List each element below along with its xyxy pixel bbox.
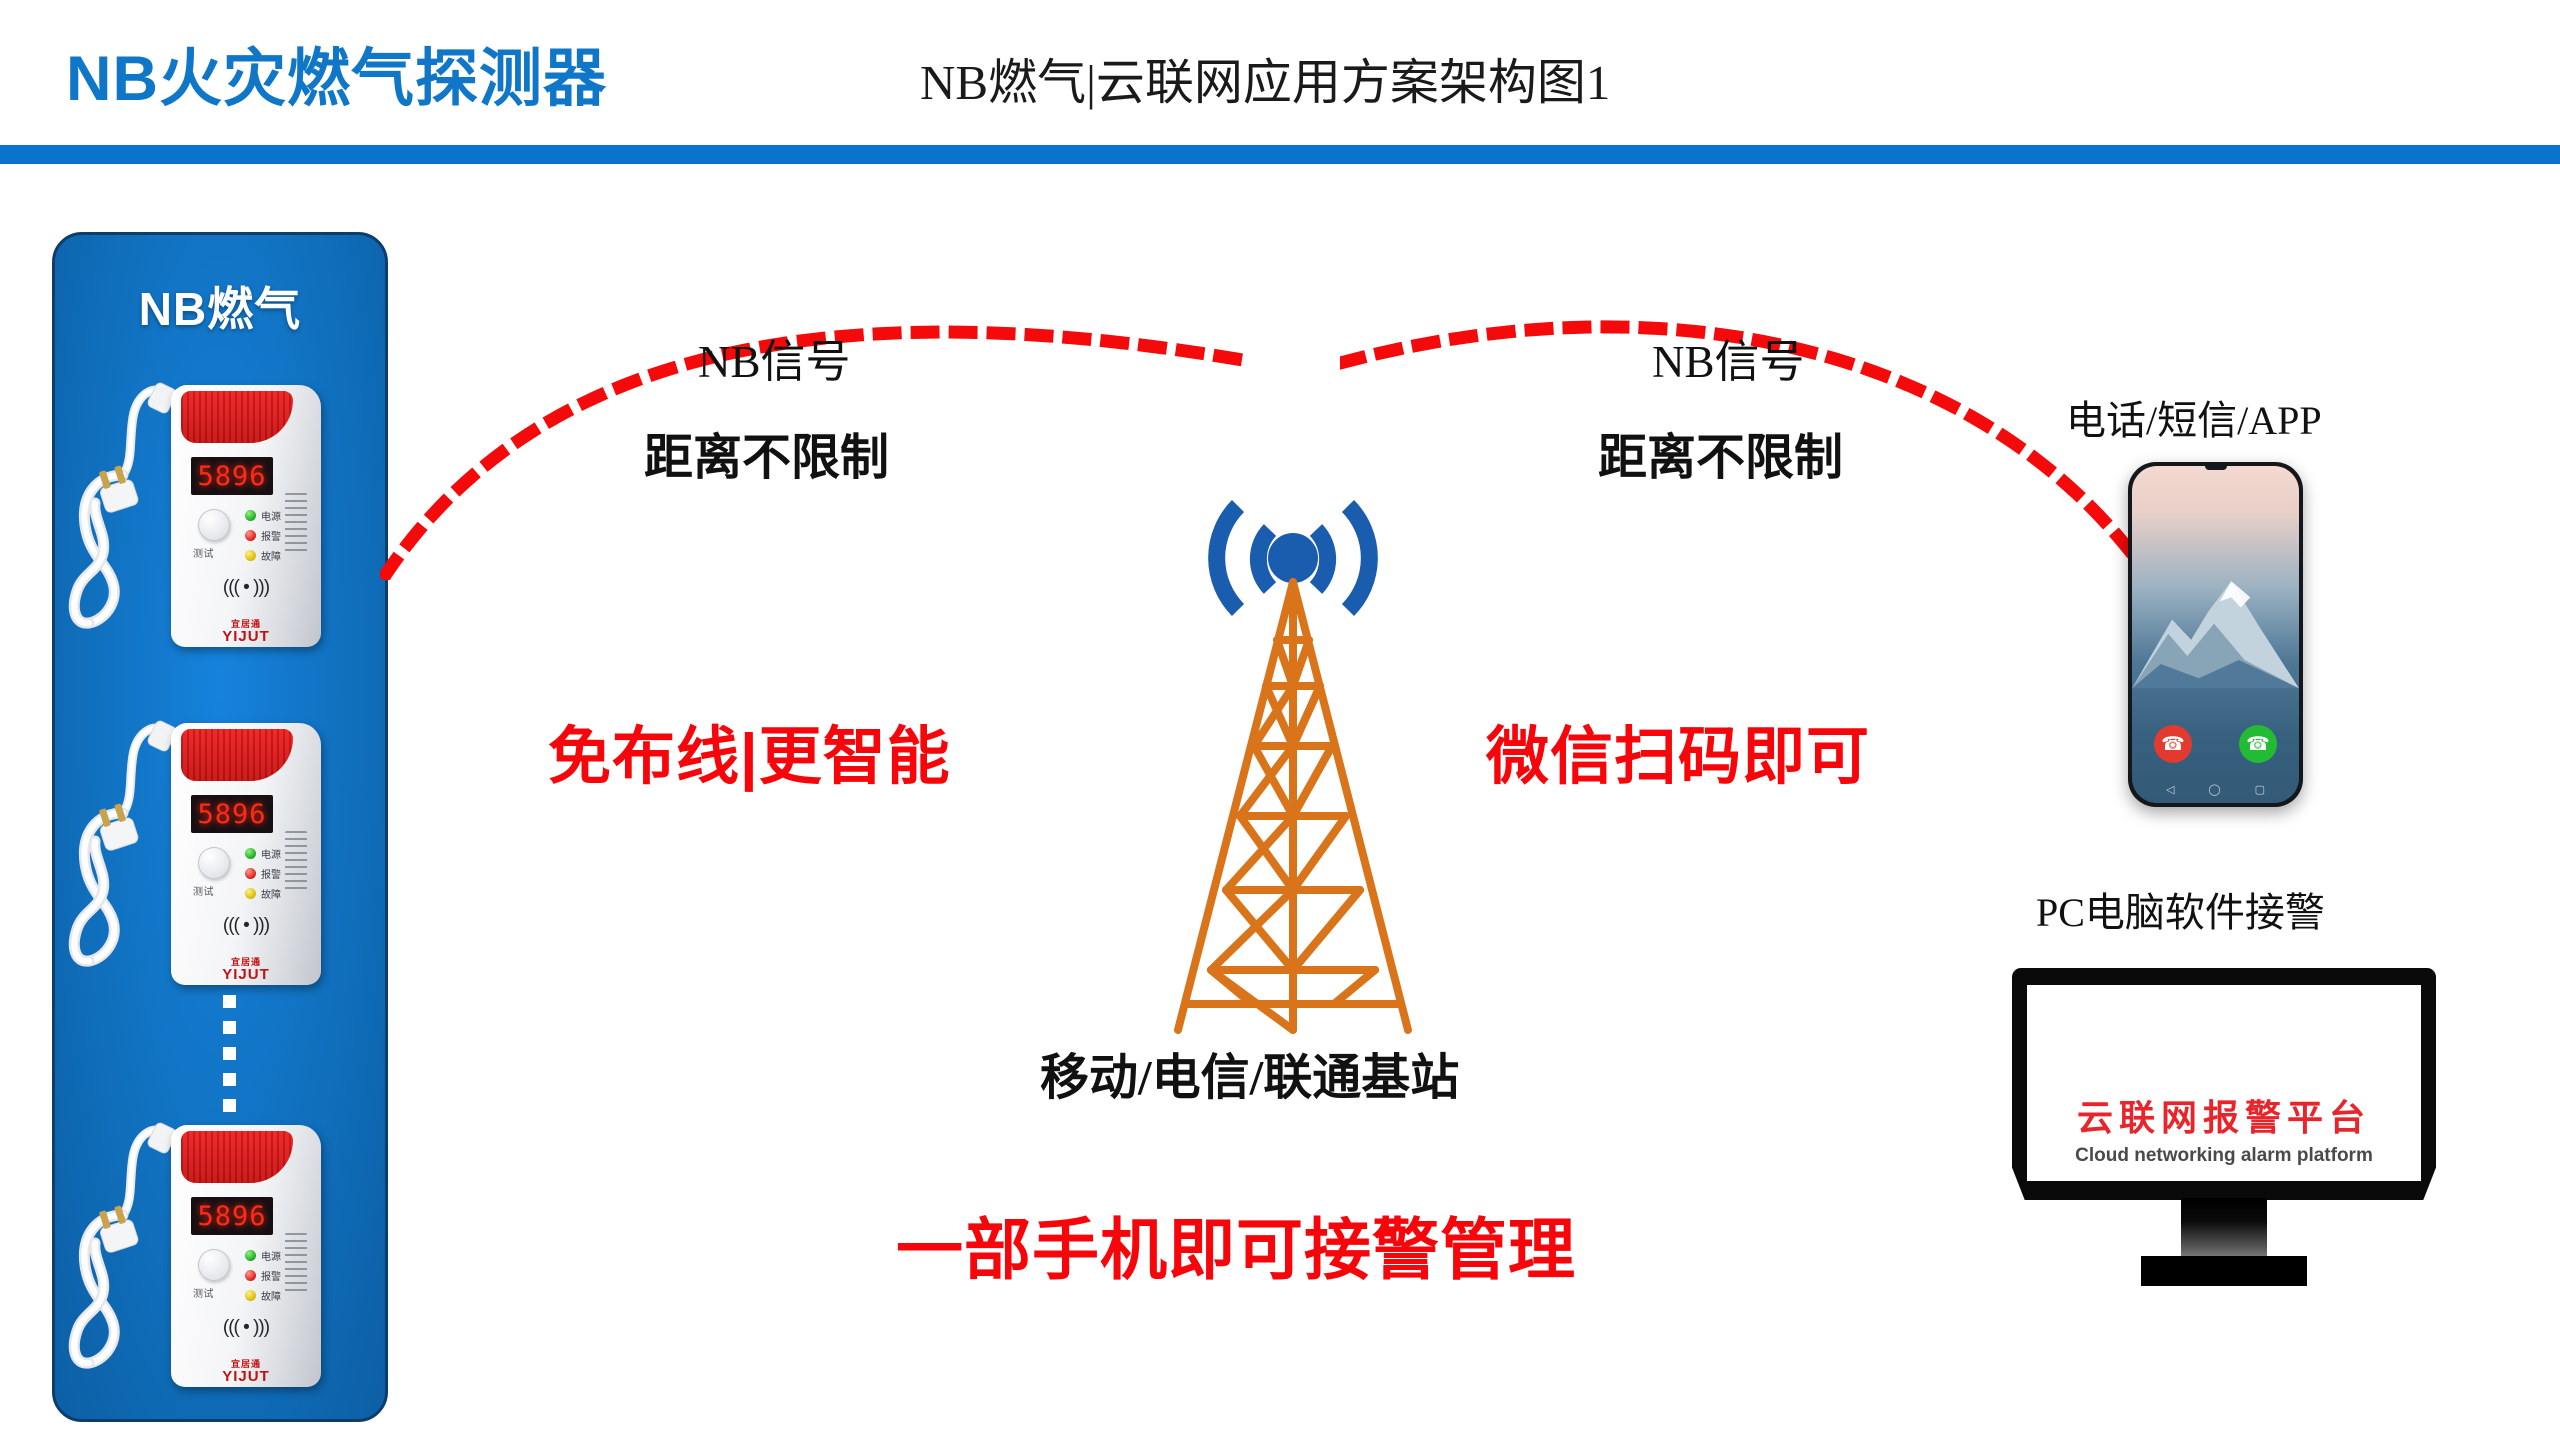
- detector-alarm-cap: [181, 1131, 293, 1183]
- header-divider: [0, 145, 2560, 164]
- android-nav-bar: ◁ ◯ ▢: [2132, 781, 2299, 797]
- list-item: 5896 测试 电源 报警 故障 ((( • ))) 宜居通 YIJUT: [63, 695, 383, 1007]
- detector-display: 5896: [191, 795, 273, 833]
- monitor-bezel: 云联网报警平台 Cloud networking alarm platform: [2012, 968, 2436, 1200]
- slogan-bottom: 一部手机即可接警管理: [896, 1196, 1576, 1293]
- alarm-led-label: 报警: [261, 1268, 281, 1283]
- sounder-icon: ((( • ))): [217, 905, 275, 947]
- device-panel: NB燃气 5896: [52, 232, 388, 1422]
- detector-display-value: 5896: [197, 1201, 266, 1232]
- led-indicator-group: 电源 报警 故障: [245, 845, 281, 905]
- list-item: 5896 测试 电源 报警 故障 ((( • ))) 宜居通 YIJUT: [63, 357, 383, 669]
- test-button[interactable]: [198, 847, 230, 879]
- decline-call-button[interactable]: ☎: [2154, 725, 2192, 763]
- brand-logo: 宜居通 YIJUT: [171, 617, 321, 644]
- platform-title: 云联网报警平台: [2077, 1098, 2371, 1138]
- detector-body: 5896 测试 电源 报警 故障 ((( • ))) 宜居通 YIJUT: [171, 385, 321, 647]
- fault-led-icon: [245, 1290, 256, 1301]
- slide-canvas: NB火灾燃气探测器 NB燃气|云联网应用方案架构图1 NB燃气: [0, 0, 2560, 1440]
- detector-display: 5896: [191, 1197, 273, 1235]
- led-indicator-group: 电源 报警 故障: [245, 507, 281, 567]
- test-button-label: 测试: [193, 545, 214, 560]
- detector-display: 5896: [191, 457, 273, 495]
- alarm-led-icon: [245, 1270, 256, 1281]
- slogan-left: 免布线|更智能: [548, 706, 951, 797]
- page-title: NB火灾燃气探测器: [66, 28, 607, 119]
- label-pc-alarm: PC电脑软件接警: [2036, 880, 2325, 938]
- detector-display-value: 5896: [197, 461, 266, 492]
- label-nb-signal-right: NB信号: [1652, 325, 1805, 390]
- alarm-led-icon: [245, 868, 256, 879]
- test-button-label: 测试: [193, 1285, 214, 1300]
- vent-grille: [285, 493, 307, 555]
- nav-home-icon[interactable]: ◯: [2208, 783, 2220, 796]
- alarm-led-label: 报警: [261, 528, 281, 543]
- smartphone: ☎ ☎ ◁ ◯ ▢: [2128, 462, 2303, 807]
- phone-screen: ☎ ☎ ◁ ◯ ▢: [2132, 466, 2299, 803]
- power-cable-icon: [63, 715, 181, 987]
- platform-subtitle: Cloud networking alarm platform: [2075, 1145, 2373, 1167]
- monitor-stand-base: [2141, 1256, 2307, 1286]
- power-led-icon: [245, 1250, 256, 1261]
- detector-body: 5896 测试 电源 报警 故障 ((( • ))) 宜居通 YIJUT: [171, 723, 321, 985]
- fault-led-label: 故障: [261, 1288, 281, 1303]
- test-button-label: 测试: [193, 883, 214, 898]
- vent-grille: [285, 831, 307, 893]
- wallpaper-mountain-icon: [2132, 567, 2299, 688]
- accept-call-button[interactable]: ☎: [2239, 725, 2277, 763]
- device-panel-title: NB燃气: [55, 273, 385, 339]
- power-cable-icon: [63, 377, 181, 649]
- nav-recent-icon[interactable]: ▢: [2255, 783, 2265, 796]
- pc-monitor: 云联网报警平台 Cloud networking alarm platform: [2000, 968, 2448, 1286]
- tower-beacon-icon: [1268, 533, 1318, 583]
- detector-display-value: 5896: [197, 799, 266, 830]
- power-led-label: 电源: [261, 1248, 281, 1263]
- sounder-icon: ((( • ))): [217, 567, 275, 609]
- label-base-station: 移动/电信/联通基站: [1040, 1038, 1459, 1109]
- fault-led-icon: [245, 550, 256, 561]
- fault-led-label: 故障: [261, 548, 281, 563]
- brand-logo: 宜居通 YIJUT: [171, 955, 321, 982]
- nav-back-icon[interactable]: ◁: [2166, 783, 2174, 796]
- label-phone-channels: 电话/短信/APP: [2066, 388, 2322, 446]
- power-led-label: 电源: [261, 508, 281, 523]
- power-cable-icon: [63, 1117, 181, 1389]
- alarm-led-icon: [245, 530, 256, 541]
- slogan-right: 微信扫码即可: [1486, 706, 1870, 797]
- cell-tower-icon: [1118, 490, 1468, 1050]
- sounder-icon: ((( • ))): [217, 1307, 275, 1349]
- brand-name-en: YIJUT: [171, 968, 321, 982]
- label-nb-signal-left: NB信号: [698, 325, 851, 390]
- brand-name-en: YIJUT: [171, 1370, 321, 1384]
- monitor-screen: 云联网报警平台 Cloud networking alarm platform: [2027, 985, 2421, 1181]
- vent-grille: [285, 1233, 307, 1295]
- page-subtitle: NB燃气|云联网应用方案架构图1: [920, 43, 1610, 114]
- label-unlimited-distance-right: 距离不限制: [1598, 418, 1843, 489]
- brand-name-en: YIJUT: [171, 630, 321, 644]
- fault-led-icon: [245, 888, 256, 899]
- phone-status-bar: [2132, 469, 2299, 480]
- alarm-led-label: 报警: [261, 866, 281, 881]
- brand-logo: 宜居通 YIJUT: [171, 1357, 321, 1384]
- fault-led-label: 故障: [261, 886, 281, 901]
- led-indicator-group: 电源 报警 故障: [245, 1247, 281, 1307]
- test-button[interactable]: [198, 1249, 230, 1281]
- label-unlimited-distance-left: 距离不限制: [644, 418, 889, 489]
- detector-alarm-cap: [181, 729, 293, 781]
- test-button[interactable]: [198, 509, 230, 541]
- list-item: 5896 测试 电源 报警 故障 ((( • ))) 宜居通 YIJUT: [63, 1097, 383, 1409]
- power-led-icon: [245, 848, 256, 859]
- power-led-label: 电源: [261, 846, 281, 861]
- power-led-icon: [245, 510, 256, 521]
- detector-alarm-cap: [181, 391, 293, 443]
- detector-body: 5896 测试 电源 报警 故障 ((( • ))) 宜居通 YIJUT: [171, 1125, 321, 1387]
